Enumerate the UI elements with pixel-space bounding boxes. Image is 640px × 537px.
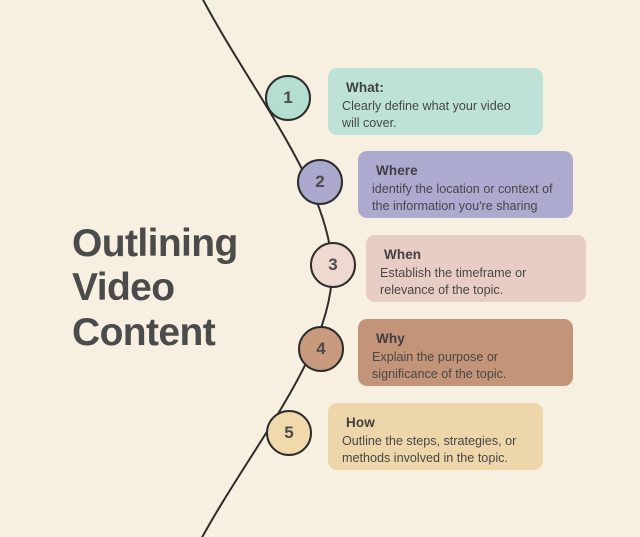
infographic-canvas: Outlining Video Content What: Clearly de… <box>0 0 640 537</box>
step-card-4-title: Why <box>376 331 557 346</box>
step-card-4-body: Explain the purpose or significance of t… <box>372 349 557 382</box>
step-node-3[interactable]: 3 <box>310 242 356 288</box>
page-title: Outlining Video Content <box>72 222 302 355</box>
step-card-4[interactable]: Why Explain the purpose or significance … <box>358 319 573 386</box>
step-card-3-title: When <box>384 247 570 262</box>
step-node-1[interactable]: 1 <box>265 75 311 121</box>
step-card-2-title: Where <box>376 163 557 178</box>
step-card-5-title: How <box>346 415 527 430</box>
step-card-3[interactable]: When Establish the timeframe or relevanc… <box>366 235 586 302</box>
step-card-3-body: Establish the timeframe or relevance of … <box>380 265 570 298</box>
step-card-1[interactable]: What: Clearly define what your video wil… <box>328 68 543 135</box>
step-card-1-body: Clearly define what your video will cove… <box>342 98 527 131</box>
step-card-5-body: Outline the steps, strategies, or method… <box>342 433 527 466</box>
step-node-2[interactable]: 2 <box>297 159 343 205</box>
step-node-5[interactable]: 5 <box>266 410 312 456</box>
step-card-2[interactable]: Where identify the location or context o… <box>358 151 573 218</box>
step-card-2-body: identify the location or context of the … <box>372 181 557 214</box>
step-card-1-title: What: <box>346 80 527 95</box>
step-node-4[interactable]: 4 <box>298 326 344 372</box>
step-card-5[interactable]: How Outline the steps, strategies, or me… <box>328 403 543 470</box>
